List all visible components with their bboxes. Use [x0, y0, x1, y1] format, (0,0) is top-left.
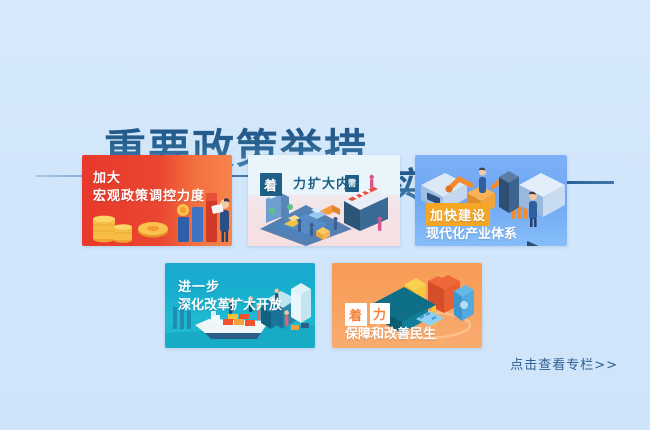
title-underline-right — [560, 181, 614, 184]
card-peoples-livelihood[interactable]: 着 力 保障和改善民生 — [332, 263, 482, 348]
title-block: 重要政策举措 及实施效果 — [0, 56, 650, 148]
view-column-link[interactable]: 点击查看专栏>> — [510, 354, 618, 373]
card-demand-label-char-2: 力 — [293, 173, 307, 192]
card-macro-label-2: 宏观政策调控力度 — [93, 185, 205, 204]
card-demand-label-char-1: 着 — [260, 173, 282, 196]
card-reform-label-1: 进一步 — [178, 276, 220, 295]
card-industry-label-2: 现代化产业体系 — [426, 223, 517, 242]
card-modern-industry[interactable]: 加快建设 现代化产业体系 — [415, 155, 567, 246]
card-deepen-reform[interactable]: 进一步 深化改革扩大开放 — [165, 263, 315, 348]
card-livelihood-label-char-2: 力 — [370, 303, 390, 324]
card-macro-label-1: 加大 — [93, 167, 121, 186]
isometric-city-icon — [248, 155, 400, 246]
card-livelihood-label-2: 保障和改善民生 — [345, 323, 436, 342]
expand-demand-illustration — [248, 155, 400, 246]
card-expand-demand[interactable]: 着 力 需 扩大内 — [248, 155, 400, 246]
card-demand-label-mid: 扩大内 — [308, 173, 350, 192]
card-macro-policy[interactable]: 加大 宏观政策调控力度 — [82, 155, 232, 246]
card-reform-label-2: 深化改革扩大开放 — [178, 294, 282, 313]
